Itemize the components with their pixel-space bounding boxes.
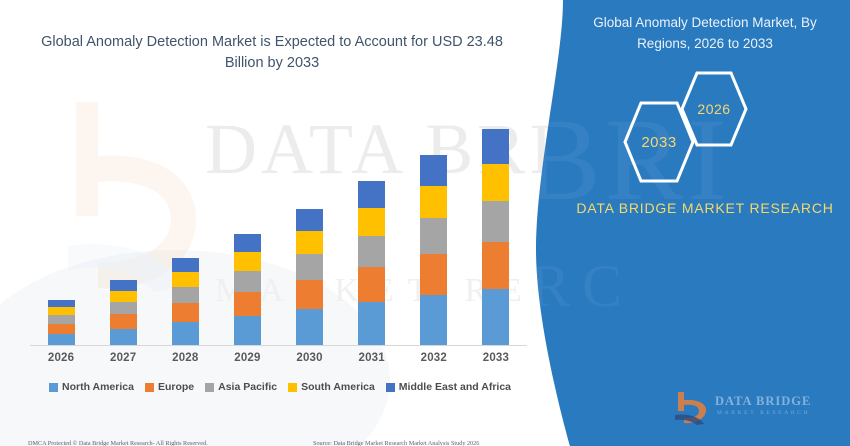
x-axis-label-2027: 2027 [92, 352, 154, 364]
bar-segment[interactable] [48, 300, 75, 307]
bar-segment[interactable] [172, 272, 199, 287]
legend-swatch-icon [49, 383, 58, 392]
bar-segment[interactable] [110, 302, 137, 314]
bar-segment[interactable] [296, 309, 323, 345]
bar-segment[interactable] [420, 186, 447, 219]
bar-column-2029 [216, 110, 278, 345]
legend-label: Europe [158, 381, 194, 393]
bar-segment[interactable] [420, 295, 447, 345]
bar-segment[interactable] [48, 307, 75, 315]
company-logo: DATA BRIDGE MARKET RESEARCH [673, 388, 813, 430]
stacked-bar[interactable] [296, 209, 323, 346]
stacked-bar[interactable] [48, 300, 75, 345]
legend-swatch-icon [205, 383, 214, 392]
stacked-bar[interactable] [358, 181, 385, 345]
x-axis-label-2032: 2032 [403, 352, 465, 364]
bar-segment[interactable] [482, 242, 509, 289]
stacked-bar[interactable] [234, 234, 261, 345]
bar-segment[interactable] [358, 236, 385, 267]
bar-column-2033 [465, 110, 527, 345]
bar-segment[interactable] [358, 302, 385, 345]
x-axis-label-2031: 2031 [341, 352, 403, 364]
bar-segment[interactable] [358, 208, 385, 236]
bar-segment[interactable] [48, 334, 75, 345]
logo-wordmark: DATA BRIDGE [715, 394, 811, 409]
legend-swatch-icon [288, 383, 297, 392]
bar-column-2026 [30, 110, 92, 345]
legend-label: North America [62, 381, 134, 393]
bar-segment[interactable] [420, 155, 447, 186]
bar-segment[interactable] [296, 231, 323, 254]
bar-segment[interactable] [172, 322, 199, 345]
bar-column-2030 [279, 110, 341, 345]
right-panel-title: Global Anomaly Detection Market, By Regi… [570, 12, 840, 54]
stacked-bar[interactable] [420, 155, 447, 345]
bar-segment[interactable] [234, 316, 261, 345]
legend-swatch-icon [145, 383, 154, 392]
footer-source-note: Source: Data Bridge Market Research Mark… [313, 440, 479, 446]
bar-segment[interactable] [234, 292, 261, 316]
hexagon-group: 2026 2033 [618, 78, 808, 168]
x-axis-label-2029: 2029 [216, 352, 278, 364]
bar-segment[interactable] [482, 164, 509, 202]
infographic-slide: DATA BRI MARKET RE Global Anomaly Detect… [0, 0, 850, 446]
bar-segment[interactable] [296, 280, 323, 310]
stacked-bar[interactable] [110, 280, 137, 345]
bar-segment[interactable] [48, 324, 75, 334]
bar-segment[interactable] [172, 303, 199, 322]
bar-segment[interactable] [234, 234, 261, 252]
bar-segment[interactable] [296, 254, 323, 280]
x-axis-label-2033: 2033 [465, 352, 527, 364]
logo-tagline: MARKET RESEARCH [717, 410, 810, 416]
bar-segment[interactable] [110, 291, 137, 302]
x-axis-label-2028: 2028 [154, 352, 216, 364]
legend-item[interactable]: South America [288, 381, 375, 393]
bar-segment[interactable] [358, 181, 385, 207]
legend-item[interactable]: Middle East and Africa [386, 381, 511, 393]
bar-segment[interactable] [172, 287, 199, 303]
x-axis-label-2030: 2030 [279, 352, 341, 364]
hexagon-2033: 2033 [622, 100, 696, 184]
legend-swatch-icon [386, 383, 395, 392]
data-bridge-logo-mark-icon [673, 390, 711, 426]
bar-column-2028 [154, 110, 216, 345]
brand-name: DATA BRIDGE MARKET RESEARCH [575, 196, 835, 220]
bar-segment[interactable] [420, 254, 447, 295]
bar-segment[interactable] [358, 267, 385, 303]
hexagon-2033-label: 2033 [622, 100, 696, 184]
footer-dmca-notice: DMCA Protected © Data Bridge Market Rese… [28, 440, 208, 446]
bar-column-2027 [92, 110, 154, 345]
bar-segment[interactable] [234, 271, 261, 292]
bar-segment[interactable] [110, 280, 137, 291]
bar-segment[interactable] [482, 129, 509, 164]
bar-segment[interactable] [48, 315, 75, 324]
chart-legend: North AmericaEuropeAsia PacificSouth Ame… [20, 381, 540, 393]
bar-segment[interactable] [172, 258, 199, 272]
x-axis-labels: 20262027202820292030203120322033 [30, 352, 527, 364]
chart-title: Global Anomaly Detection Market is Expec… [22, 32, 522, 74]
legend-item[interactable]: North America [49, 381, 134, 393]
legend-label: Middle East and Africa [399, 381, 511, 393]
legend-item[interactable]: Europe [145, 381, 194, 393]
x-axis-line [30, 345, 527, 346]
bar-segment[interactable] [110, 329, 137, 345]
bar-column-2031 [341, 110, 403, 345]
plot-area [30, 110, 535, 346]
legend-item[interactable]: Asia Pacific [205, 381, 277, 393]
stacked-bar[interactable] [482, 129, 509, 345]
stacked-bar[interactable] [172, 258, 199, 345]
bar-segment[interactable] [482, 201, 509, 242]
x-axis-label-2026: 2026 [30, 352, 92, 364]
bar-segment[interactable] [110, 314, 137, 328]
bar-segment[interactable] [420, 218, 447, 254]
bar-group [30, 110, 527, 345]
bar-segment[interactable] [482, 289, 509, 345]
chart-pane: Global Anomaly Detection Market is Expec… [0, 0, 600, 446]
legend-label: South America [301, 381, 375, 393]
bar-column-2032 [403, 110, 465, 345]
legend-label: Asia Pacific [218, 381, 277, 393]
bar-segment[interactable] [234, 252, 261, 271]
bar-segment[interactable] [296, 209, 323, 231]
